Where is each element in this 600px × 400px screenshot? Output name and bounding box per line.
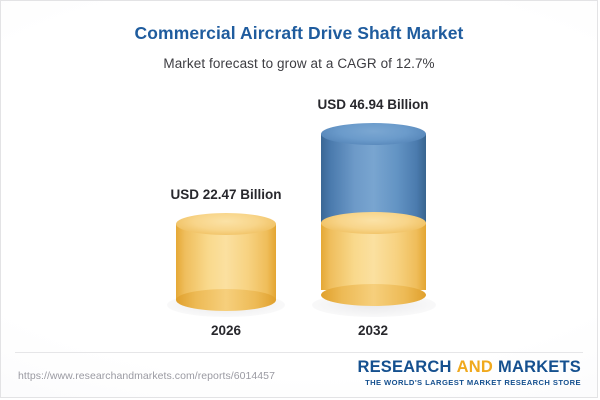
bar-2026 <box>176 213 276 306</box>
bar-top-cap-2032 <box>321 123 426 145</box>
logo-word-research: RESEARCH <box>357 358 451 376</box>
infographic-card: Commercial Aircraft Drive Shaft Market M… <box>0 0 598 398</box>
bar-bottom-cap-2032 <box>321 284 426 306</box>
bar-top-cap-2026 <box>176 213 276 235</box>
logo-word-markets: MARKETS <box>498 358 581 376</box>
bar-value-label-2026: USD 22.47 Billion <box>170 187 281 202</box>
logo-tagline: THE WORLD'S LARGEST MARKET RESEARCH STOR… <box>357 378 581 387</box>
bar-category-label-2032: 2032 <box>358 323 388 338</box>
research-and-markets-logo[interactable]: RESEARCHANDMARKETS THE WORLD'S LARGEST M… <box>357 359 581 387</box>
bar-chart: USD 22.47 Billion 2026 USD 46.94 Billion <box>1 1 598 398</box>
bar-split-cap-2032 <box>321 212 426 234</box>
logo-wordmark: RESEARCHANDMARKETS <box>357 359 581 376</box>
bar-value-label-2032: USD 46.94 Billion <box>317 97 428 112</box>
logo-word-and: AND <box>457 358 493 376</box>
bar-category-label-2026: 2026 <box>211 323 241 338</box>
footer-divider <box>15 352 583 353</box>
bar-2032 <box>321 123 426 306</box>
bar-bottom-cap-2026 <box>176 289 276 311</box>
source-url[interactable]: https://www.researchandmarkets.com/repor… <box>18 370 275 382</box>
